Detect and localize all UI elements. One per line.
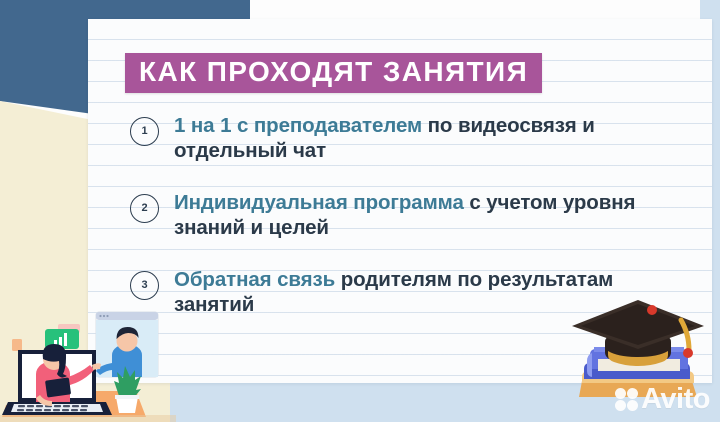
slide-root: КАК ПРОХОДЯТ ЗАНЯТИЯ 1 1 на 1 с преподав…	[0, 0, 720, 422]
list-item-highlight: 1 на 1 с преподавателем	[174, 114, 422, 137]
avito-logo-icon	[615, 388, 639, 412]
tassel-end-icon	[683, 348, 693, 358]
number-badge-label: 1	[141, 126, 147, 137]
number-badge-label: 2	[141, 203, 147, 214]
list-item-text: 1 на 1 с преподавателем по видеосвязя и …	[174, 113, 644, 163]
number-badge: 1	[130, 117, 159, 146]
list-item-highlight: Обратная связь	[174, 268, 335, 291]
avito-watermark-label: Avito	[641, 385, 710, 414]
title-banner: КАК ПРОХОДЯТ ЗАНЯТИЯ	[125, 53, 542, 93]
notebook-icon	[45, 377, 71, 397]
page-title: КАК ПРОХОДЯТ ЗАНЯТИЯ	[139, 58, 528, 86]
tassel-bead-icon	[647, 305, 657, 315]
sticky-note-icon	[12, 339, 22, 351]
desk-shadow-icon	[0, 415, 176, 422]
number-badge: 2	[130, 194, 159, 223]
list-item: 1 1 на 1 с преподавателем по видеосвязя …	[130, 113, 690, 167]
list-item: 2 Индивидуальная программа с учетом уров…	[130, 190, 690, 244]
list-item-highlight: Индивидуальная программа	[174, 191, 464, 214]
online-lesson-illustration	[0, 287, 176, 422]
list-item-text: Индивидуальная программа с учетом уровня…	[174, 190, 644, 240]
avito-watermark: Avito	[615, 385, 710, 414]
